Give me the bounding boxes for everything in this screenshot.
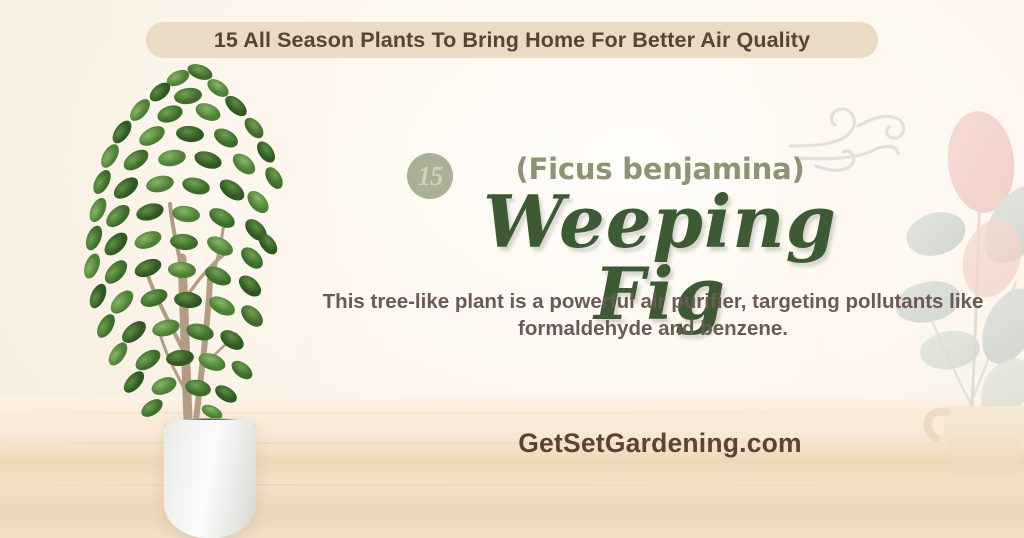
page-title: 15 All Season Plants To Bring Home For B… [214, 28, 810, 53]
ceramic-pot [164, 420, 256, 538]
ficus-tree-photo [60, 48, 320, 538]
website-url: GetSetGardening.com [420, 428, 900, 459]
header-title-pill: 15 All Season Plants To Bring Home For B… [146, 22, 878, 58]
banner-canvas: 15 All Season Plants To Bring Home For B… [0, 0, 1024, 538]
plant-description: This tree-like plant is a powerful air p… [318, 288, 988, 343]
